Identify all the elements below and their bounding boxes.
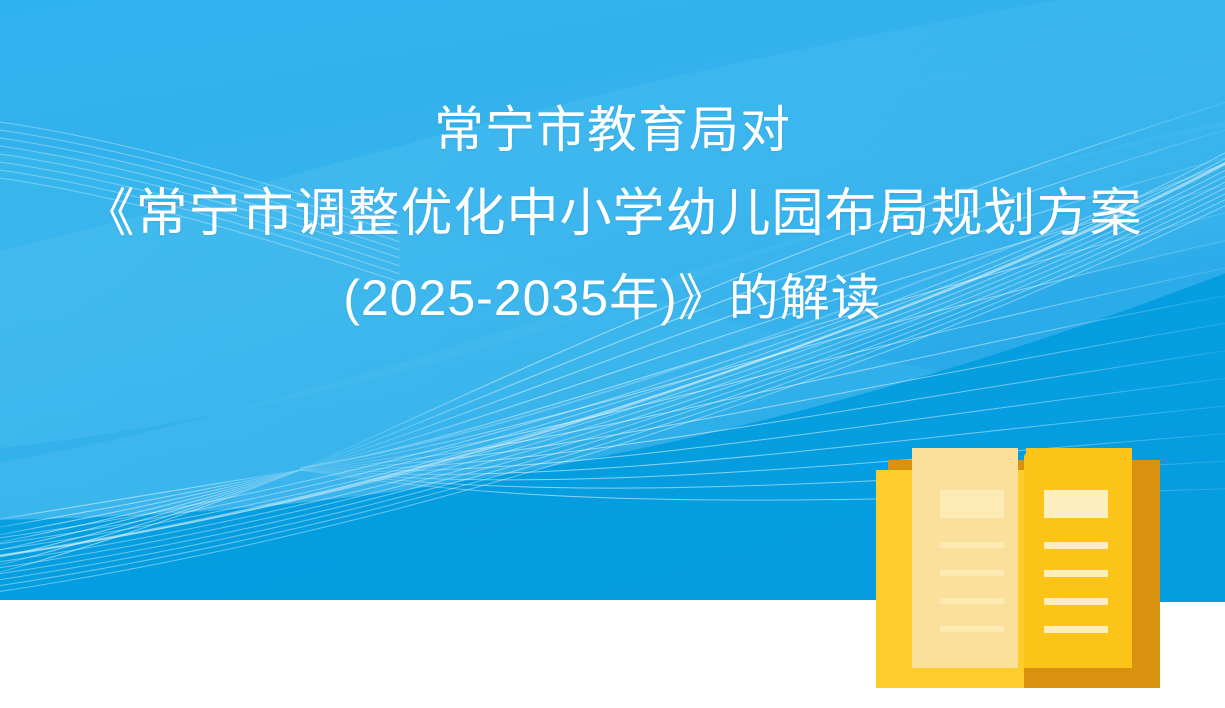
title-line-2: 《常宁市调整优化中小学幼儿园布局规划方案 xyxy=(0,172,1225,256)
book-text-line xyxy=(940,598,1004,604)
book-text-block xyxy=(1044,490,1108,518)
title-slide: 常宁市教育局对 《常宁市调整优化中小学幼儿园布局规划方案 (2025-2035年… xyxy=(0,0,1225,708)
book-text-block xyxy=(940,490,1004,518)
book-text-line xyxy=(1044,570,1108,577)
book-text-line xyxy=(1044,626,1108,633)
open-book-icon xyxy=(868,446,1168,692)
slide-title: 常宁市教育局对 《常宁市调整优化中小学幼儿园布局规划方案 (2025-2035年… xyxy=(0,88,1225,340)
book-text-line xyxy=(1044,542,1108,549)
title-line-3: (2025-2035年)》的解读 xyxy=(0,256,1225,340)
title-line-1: 常宁市教育局对 xyxy=(0,88,1225,172)
book-text-line xyxy=(1044,598,1108,605)
background-right-edge-tab xyxy=(1160,590,1225,602)
book-text-line xyxy=(940,542,1004,548)
book-text-line xyxy=(940,626,1004,632)
open-book-illustration xyxy=(868,446,1168,692)
book-text-line xyxy=(940,570,1004,576)
book-page-left xyxy=(912,448,1018,668)
book-page-right-body xyxy=(1026,448,1132,668)
